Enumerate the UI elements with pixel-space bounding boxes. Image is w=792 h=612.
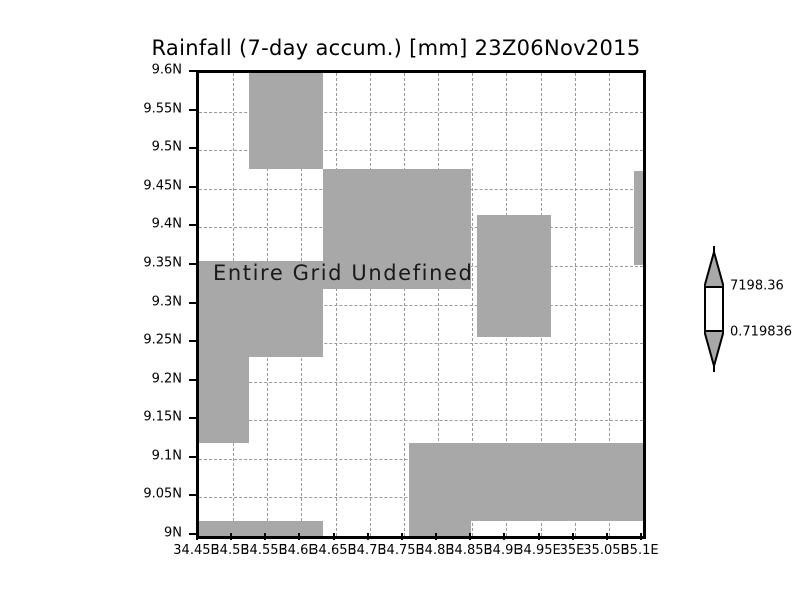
y-axis-tick (189, 263, 196, 265)
y-axis-tick-label: 9.25N (112, 333, 182, 348)
x-axis-tick (503, 533, 505, 540)
plot-area[interactable]: Entire Grid Undefined (199, 73, 643, 536)
page-title: Rainfall (7-day accum.) [mm] 23Z06Nov201… (0, 36, 792, 60)
colorbar-range-box (704, 286, 724, 332)
y-axis-tick-label: 9.45N (112, 179, 182, 194)
undefined-region-block (634, 171, 643, 265)
undefined-region-block (249, 73, 323, 169)
y-axis-tick (189, 456, 196, 458)
undefined-region-block (199, 357, 249, 443)
y-axis-tick (189, 70, 196, 72)
y-axis-tick-label: 9.6N (112, 63, 182, 78)
y-axis-tick (189, 340, 196, 342)
x-axis-tick (469, 533, 471, 540)
y-axis-tick (189, 186, 196, 188)
x-axis-tick (333, 533, 335, 540)
y-axis-tick-label: 9.5N (112, 140, 182, 155)
y-axis-tick (189, 224, 196, 226)
plot-frame: Entire Grid Undefined (196, 70, 646, 539)
y-axis-tick-label: 9.1N (112, 449, 182, 464)
x-axis-tick (401, 533, 403, 540)
y-axis-tick-label: 9.4N (112, 217, 182, 232)
y-axis-tick (189, 533, 196, 535)
x-axis-tick (230, 533, 232, 540)
undefined-region-block (409, 443, 643, 521)
x-axis-tick (572, 533, 574, 540)
gridline-vertical (336, 73, 337, 536)
y-axis-tick-label: 9.35N (112, 256, 182, 271)
undefined-region-block (409, 521, 471, 536)
y-axis-tick-label: 9.55N (112, 102, 182, 117)
y-axis-tick (189, 302, 196, 304)
x-axis-tick (367, 533, 369, 540)
gridline-horizontal (199, 382, 643, 383)
y-axis-tick-label: 9.15N (112, 410, 182, 425)
x-axis-tick-label: 35.1E (621, 543, 658, 558)
grads-plot-canvas: Rainfall (7-day accum.) [mm] 23Z06Nov201… (0, 0, 792, 612)
colorbar-arrow-bottom-outline (704, 330, 724, 366)
undefined-region-block (199, 521, 323, 536)
y-axis-tick-label: 9.3N (112, 295, 182, 310)
colorbar-arrow-top-outline (704, 252, 724, 288)
entire-grid-undefined-label: Entire Grid Undefined (213, 261, 473, 285)
gridline-horizontal (199, 420, 643, 421)
y-axis-tick-label: 9.2N (112, 372, 182, 387)
x-axis-tick-label: 35E (560, 543, 585, 558)
x-axis-tick-label: 34.95E (515, 543, 560, 558)
colorbar-min-label: 0.719836 (730, 325, 792, 340)
x-axis-tick (435, 533, 437, 540)
x-axis-tick (298, 533, 300, 540)
colorbar-max-label: 7198.36 (730, 279, 784, 294)
y-axis-tick (189, 417, 196, 419)
x-axis-tick (538, 533, 540, 540)
gridline-vertical (370, 73, 371, 536)
x-axis-tick (640, 533, 642, 540)
x-axis-tick (264, 533, 266, 540)
gridline-vertical (404, 73, 405, 536)
y-axis-tick-label: 9N (112, 526, 182, 541)
y-axis-tick (189, 147, 196, 149)
colorbar[interactable]: 7198.36 0.719836 (700, 252, 728, 366)
x-axis-tick (606, 533, 608, 540)
y-axis-tick-label: 9.05N (112, 487, 182, 502)
y-axis-tick (189, 379, 196, 381)
y-axis-tick (189, 494, 196, 496)
x-axis-tick (196, 533, 198, 540)
y-axis-tick (189, 109, 196, 111)
undefined-region-block (477, 215, 551, 337)
